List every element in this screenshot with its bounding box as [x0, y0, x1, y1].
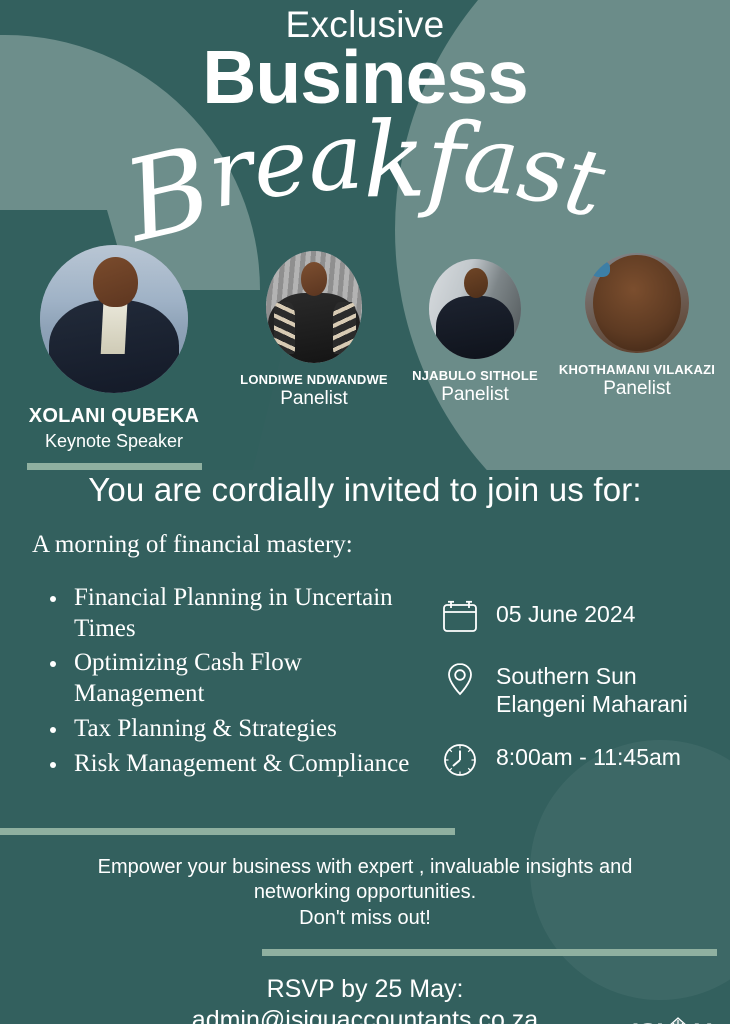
portrait-xolani-qubeka: [40, 245, 188, 393]
detail-time-value: 8:00am - 11:45am: [496, 740, 681, 771]
portrait-khothamani-vilakazi: [585, 253, 689, 353]
logo-mark: ISI U: [626, 1013, 718, 1024]
speaker-card-keynote: XOLANI QUBEKA Keynote Speaker: [14, 245, 214, 470]
tagline-line-2: networking opportunities.: [40, 880, 690, 905]
topic-item: Optimizing Cash Flow Management: [44, 648, 420, 710]
topic-item: Financial Planning in Uncertain Times: [44, 583, 420, 645]
poster-footer: Empower your business with expert , inva…: [0, 828, 730, 1024]
detail-venue: Southern Sun Elangeni Maharani: [440, 659, 730, 718]
footer-tagline: Empower your business with expert , inva…: [0, 855, 730, 931]
speaker-lineup: XOLANI QUBEKA Keynote Speaker LONDIWE ND…: [0, 243, 730, 443]
script-letter: a: [304, 110, 365, 206]
script-letter: a: [460, 113, 523, 209]
script-letter: e: [248, 115, 313, 213]
logo-building-icon: [665, 1015, 691, 1024]
topic-item: Risk Management & Compliance: [44, 749, 420, 780]
topics-list: Financial Planning in Uncertain Times Op…: [0, 583, 420, 802]
invitation-lead: You are cordially invited to join us for…: [0, 471, 730, 509]
speaker-card-panelist-1: LONDIWE NDWANDWE Panelist: [228, 251, 400, 410]
detail-date: 05 June 2024: [440, 597, 730, 637]
company-logo: ISI U ACCOUNTANTS CHARTERED ACCOUNTANTS …: [626, 1013, 718, 1024]
logo-letters-right: U: [693, 1020, 712, 1024]
rsvp-block: RSVP by 25 May: admin@isiquaccountants.c…: [0, 974, 730, 1024]
keynote-accent-bar: [27, 463, 202, 470]
portrait-londiwe-ndwandwe: [266, 251, 362, 363]
detail-venue-value: Southern Sun Elangeni Maharani: [496, 659, 730, 718]
rsvp-deadline: RSVP by 25 May:: [0, 974, 730, 1005]
poster-header: Exclusive Business B r e a k f a s t: [0, 0, 730, 247]
header-script-word: B r e a k f a s t: [0, 107, 730, 247]
topic-item: Tax Planning & Strategies: [44, 714, 420, 745]
speaker-name: NJABULO SITHOLE: [400, 368, 550, 383]
speaker-role: Keynote Speaker: [14, 431, 214, 452]
speaker-role: Panelist: [400, 384, 550, 406]
speaker-card-panelist-3: KHOTHAMANI VILAKAZI Panelist: [548, 253, 726, 400]
speaker-card-panelist-2: NJABULO SITHOLE Panelist: [400, 259, 550, 406]
speaker-name: LONDIWE NDWANDWE: [228, 372, 400, 387]
script-letter: f: [424, 108, 466, 213]
rsvp-email[interactable]: admin@isiquaccountants.co.za: [0, 1005, 730, 1024]
script-letter: k: [362, 107, 427, 212]
clock-icon: [440, 740, 480, 780]
speaker-role: Panelist: [548, 378, 726, 400]
logo-letters-left: ISI: [632, 1020, 664, 1024]
tagline-line-1: Empower your business with expert , inva…: [40, 855, 690, 880]
detail-time: 8:00am - 11:45am: [440, 740, 730, 780]
speaker-name: KHOTHAMANI VILAKAZI: [548, 362, 726, 377]
event-poster: Exclusive Business B r e a k f a s t XOL…: [0, 0, 730, 1024]
content-row: Financial Planning in Uncertain Times Op…: [0, 583, 730, 802]
invitation-subheading: A morning of financial mastery:: [32, 531, 730, 559]
tagline-line-3: Don't miss out!: [40, 906, 690, 931]
divider-bottom: [262, 949, 717, 956]
speaker-role: Panelist: [228, 388, 400, 410]
portrait-njabulo-sithole: [429, 259, 521, 359]
calendar-icon: [440, 597, 480, 637]
location-pin-icon: [440, 659, 480, 699]
speaker-name: XOLANI QUBEKA: [14, 405, 214, 428]
divider-top: [0, 828, 455, 835]
event-details: 05 June 2024 Southern Sun Elangeni Mahar…: [420, 583, 730, 802]
detail-date-value: 05 June 2024: [496, 597, 635, 628]
